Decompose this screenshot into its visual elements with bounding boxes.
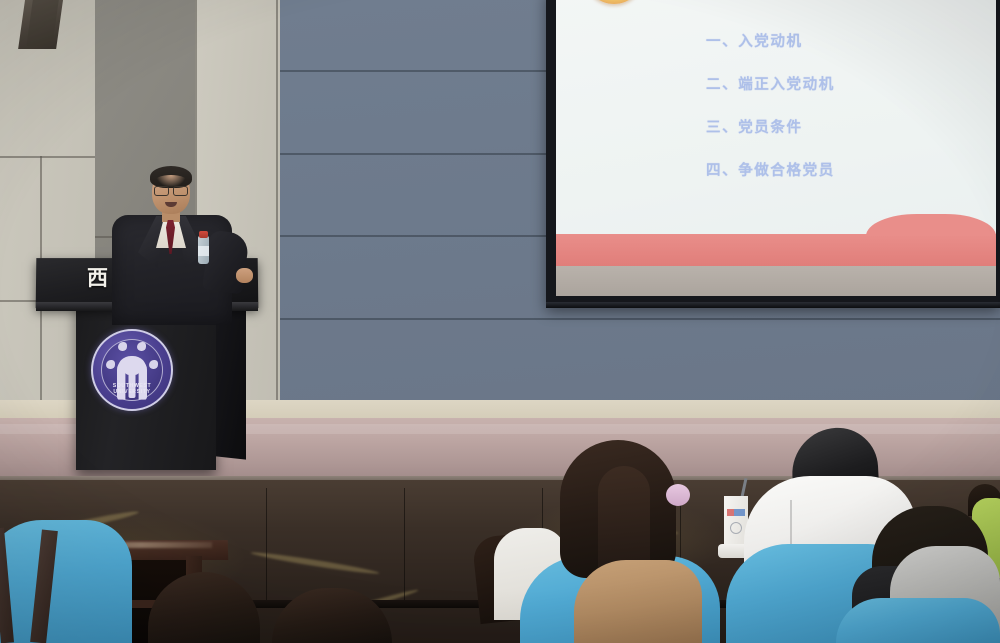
juice-carton-label (727, 509, 745, 516)
speaker-arm (202, 230, 250, 295)
water-bottle-cap (199, 231, 208, 238)
emblem-text: SOUTHWEST UNIVERSITY (102, 383, 162, 395)
audience-member-tan-coat (574, 560, 702, 643)
slide-accent-band (556, 234, 996, 268)
emblem-bird-left (106, 360, 115, 369)
slide-outline-list: 一、入党动机 二、端正入党动机 三、党员条件 四、争做合格党员 (706, 30, 996, 202)
slide-bottom-band (556, 266, 996, 296)
slide-list-item: 三、党员条件 (706, 116, 996, 137)
speaker-hand (236, 268, 253, 283)
projection-screen-frame: 一、入党动机 二、端正入党动机 三、党员条件 四、争做合格党员 (546, 0, 1000, 308)
slide-crown-ornament-icon (584, 0, 644, 4)
water-bottle-label (198, 246, 209, 256)
pink-accessory (666, 484, 690, 506)
marble-joint (404, 488, 405, 608)
emblem-bird-top-right (137, 342, 146, 351)
projection-screen: 一、入党动机 二、端正入党动机 三、党员条件 四、争做合格党员 (556, 0, 996, 296)
juice-carton-graphic (730, 522, 742, 534)
seat-back (836, 598, 1000, 643)
glasses-icon (154, 186, 188, 194)
emblem-bird-top-left (118, 342, 127, 351)
wall-seam (276, 0, 278, 420)
slide-list-item: 一、入党动机 (706, 30, 996, 51)
lecture-hall-photo: 一、入党动机 二、端正入党动机 三、党员条件 四、争做合格党员 西南大学 荣昌讲… (0, 0, 1000, 643)
emblem-bird-right (149, 360, 158, 369)
slide-list-item: 二、端正入党动机 (706, 73, 996, 94)
emblem-inner-ring: SOUTHWEST UNIVERSITY (101, 339, 163, 401)
slide-list-item: 四、争做合格党员 (706, 159, 996, 180)
audience-member-blue-jacket (0, 520, 132, 643)
university-emblem-icon: SOUTHWEST UNIVERSITY (91, 329, 173, 411)
speaker-hair (150, 166, 192, 188)
marble-joint (266, 488, 267, 608)
